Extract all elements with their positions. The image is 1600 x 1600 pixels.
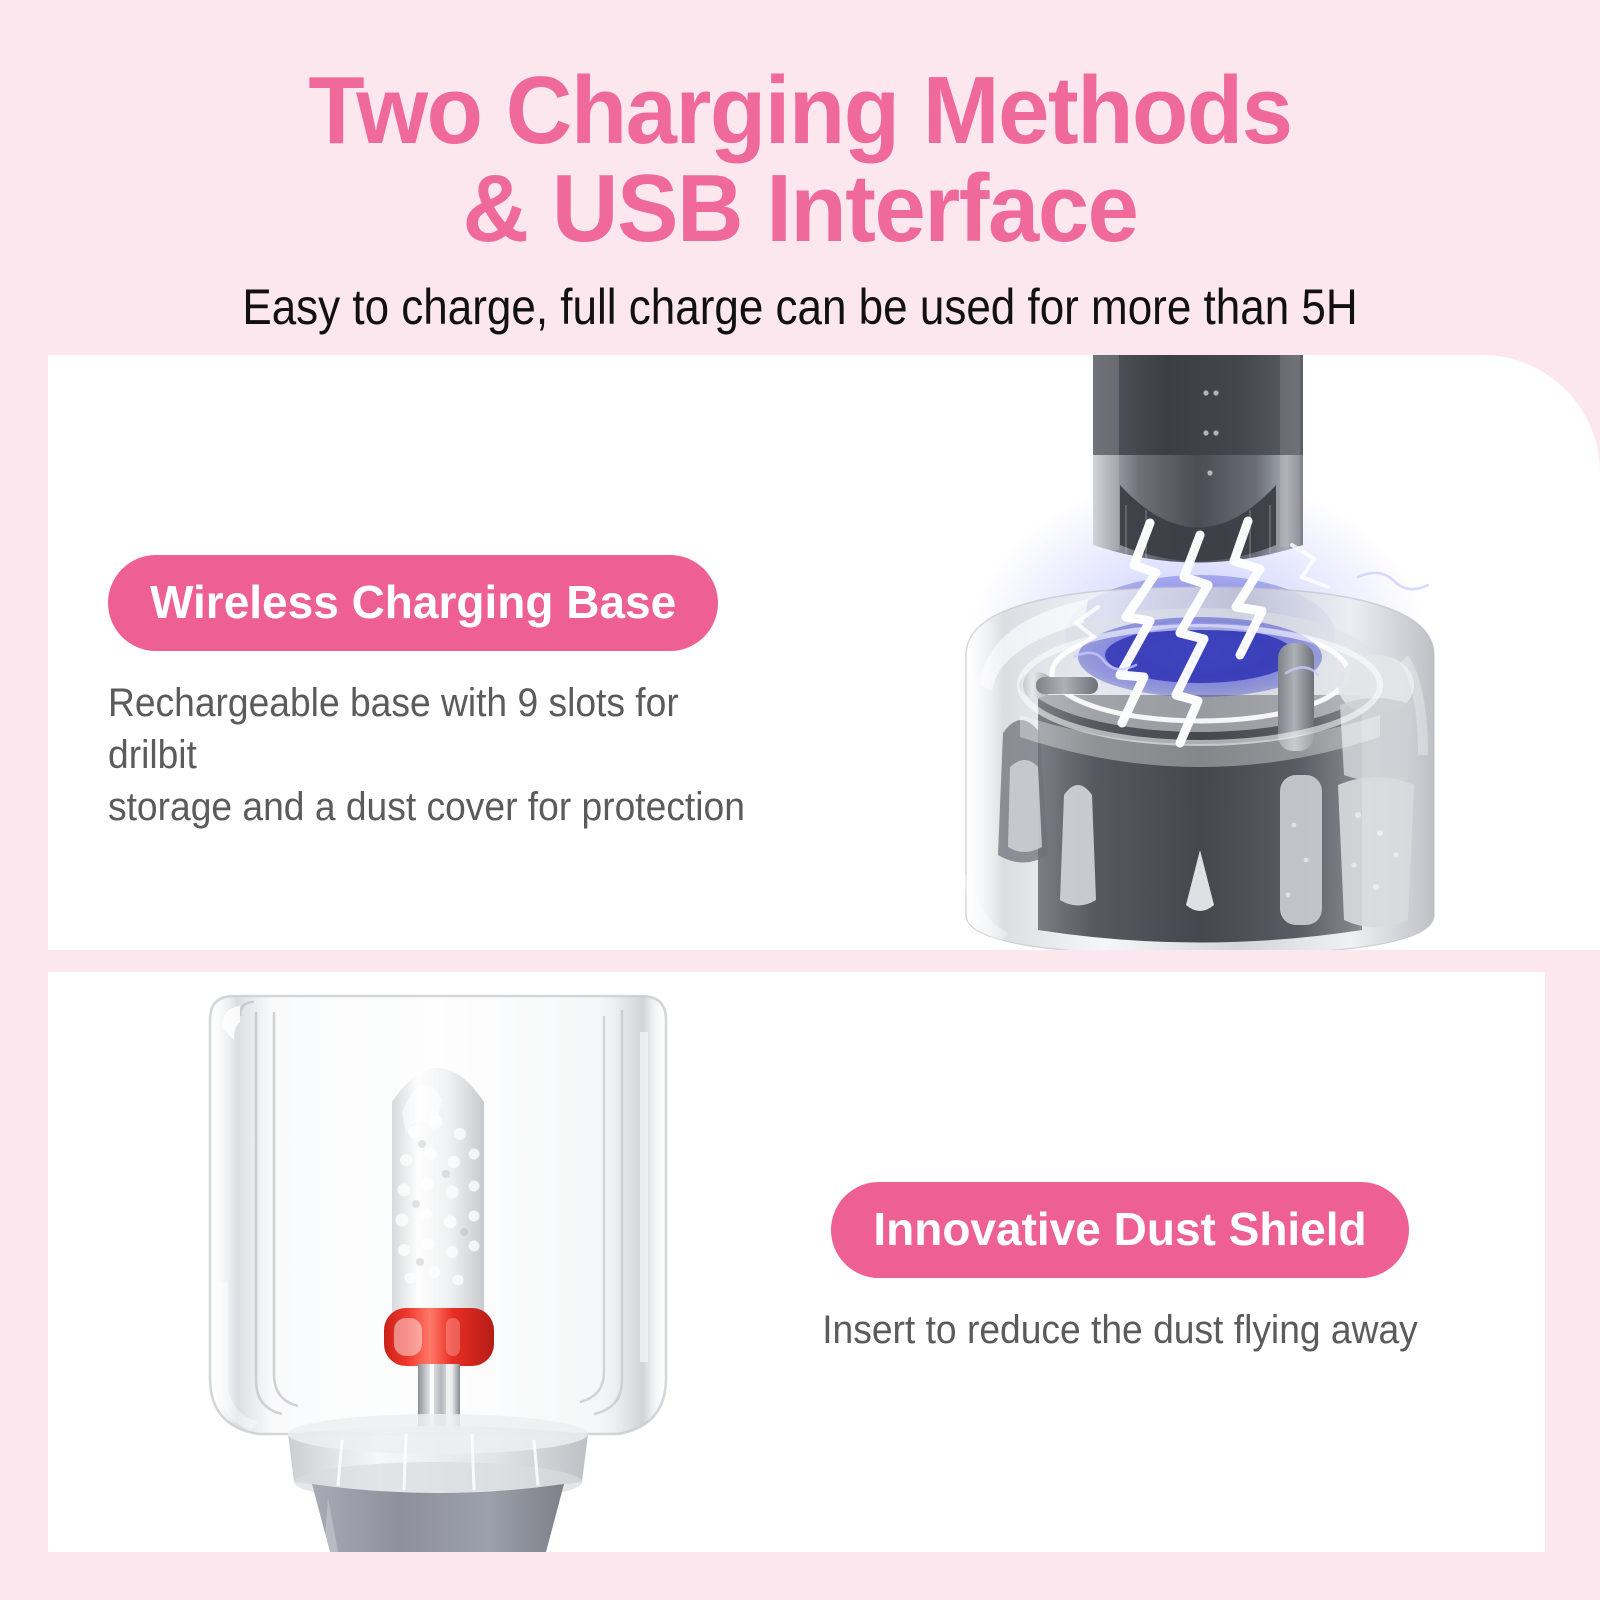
feature-description-1-line-1: Rechargeable base with 9 slots for drilb… <box>108 681 679 777</box>
wireless-charging-base-photo <box>888 355 1508 950</box>
feature-panel-dust-shield: Innovative Dust Shield Insert to reduce … <box>48 972 1545 1552</box>
dust-shield-photo <box>178 982 698 1552</box>
page-subtitle: Easy to charge, full charge can be used … <box>96 280 1504 334</box>
badge-innovative-dust-shield: Innovative Dust Shield <box>831 1182 1408 1278</box>
feature-text-block-2: Innovative Dust Shield Insert to reduce … <box>790 1182 1450 1356</box>
red-collar-graphic <box>384 1308 494 1366</box>
badge-wireless-charging-base: Wireless Charging Base <box>108 555 718 651</box>
feature-text-block-1: Wireless Charging Base Rechargeable base… <box>108 555 808 833</box>
feature-description-2: Insert to reduce the dust flying away <box>813 1304 1427 1356</box>
page-title: Two Charging Methods & USB Interface <box>32 0 1568 258</box>
header-section: Two Charging Methods & USB Interface Eas… <box>0 0 1600 355</box>
feature-panel-wireless-charging-base: Wireless Charging Base Rechargeable base… <box>48 355 1600 950</box>
page-title-line-1: Two Charging Methods <box>32 62 1568 160</box>
feature-description-1: Rechargeable base with 9 slots for drilb… <box>108 677 759 833</box>
feature-description-1-line-2: storage and a dust cover for protection <box>108 785 745 829</box>
handle-stub-graphic <box>312 1484 564 1552</box>
ceramic-drill-bit-graphic <box>392 1068 484 1319</box>
page-title-line-2: & USB Interface <box>32 160 1568 258</box>
